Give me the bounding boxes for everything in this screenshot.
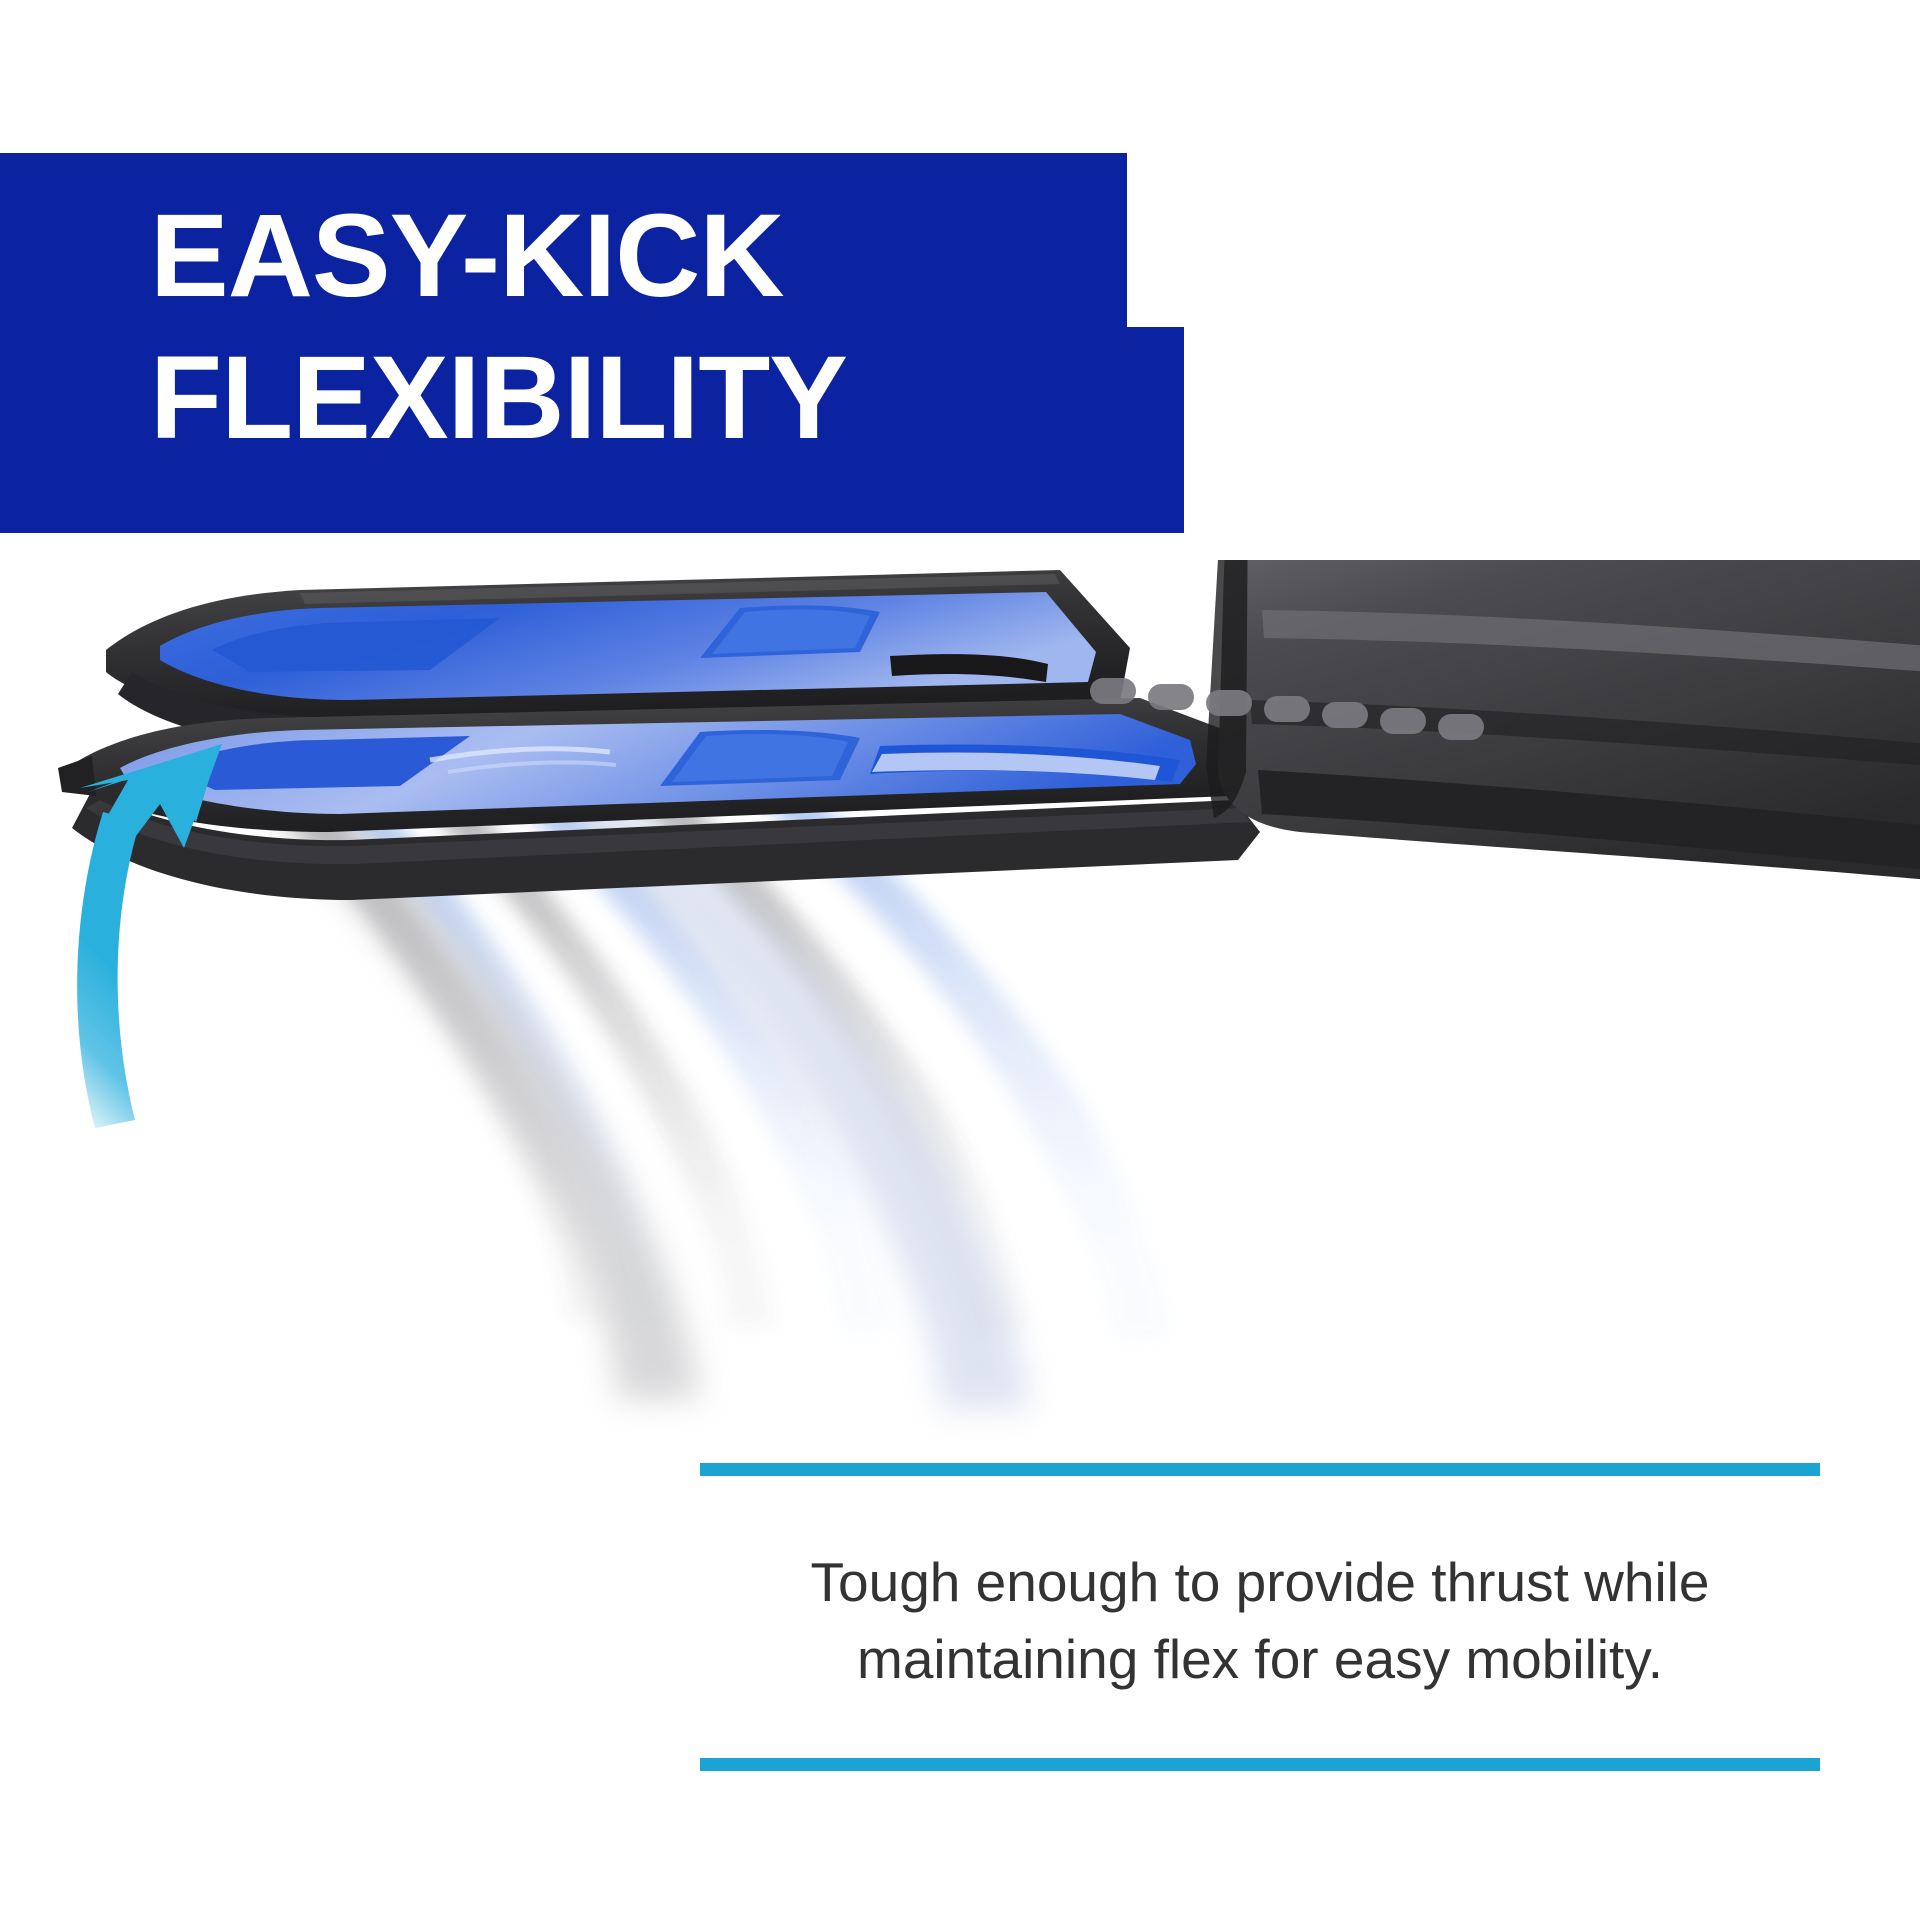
caption-rule-bottom: [700, 1758, 1820, 1771]
headline-line-2: FLEXIBILITY: [0, 327, 1184, 533]
caption-text: Tough enough to provide thrust while mai…: [700, 1476, 1820, 1758]
product-photo: [0, 560, 1920, 1560]
caption-line-2: maintaining flex for easy mobility.: [700, 1621, 1820, 1698]
caption-block: Tough enough to provide thrust while mai…: [700, 1463, 1820, 1771]
caption-line-1: Tough enough to provide thrust while: [700, 1544, 1820, 1621]
headline-banner: EASY-KICK FLEXIBILITY: [0, 153, 1184, 533]
poster-canvas: EASY-KICK FLEXIBILITY Tough enough to pr…: [0, 0, 1920, 1920]
lower-fin-blade: [58, 698, 1260, 900]
caption-rule-top: [700, 1463, 1820, 1476]
foot-pocket: [1206, 560, 1920, 880]
headline-line-1: EASY-KICK: [0, 153, 1127, 327]
